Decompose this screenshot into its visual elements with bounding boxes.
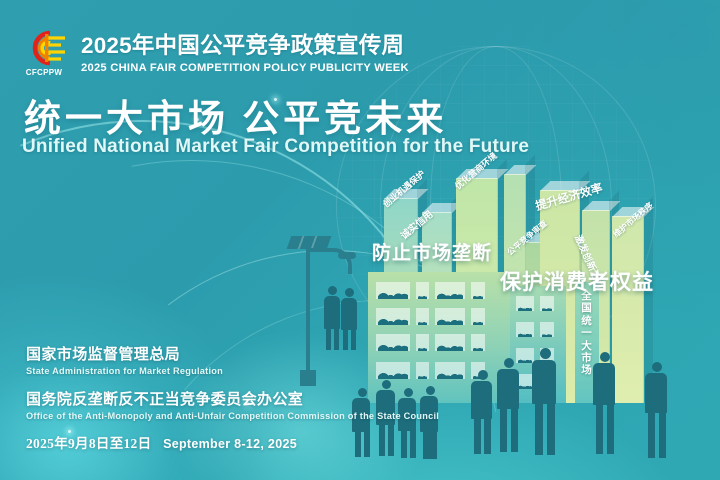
window-row: [516, 296, 554, 311]
window: [376, 282, 410, 299]
window: [540, 296, 554, 311]
header-title-en: 2025 CHINA FAIR COMPETITION POLICY PUBLI…: [81, 62, 409, 74]
header-title-cn: 2025年中国公平竞争政策宣传周: [81, 33, 409, 58]
logo: CFCPPW: [18, 30, 70, 77]
poster-header: CFCPPW 2025年中国公平竞争政策宣传周 2025 CHINA FAIR …: [18, 30, 409, 77]
city-banner: 防止市场垄断: [372, 238, 492, 265]
window-row: [376, 282, 485, 299]
window: [516, 296, 534, 311]
person: [341, 298, 357, 330]
window: [435, 362, 465, 379]
person: [532, 360, 556, 404]
organizer: 国务院反垄断反不正当竞争委员会办公室 Office of the Anti-Mo…: [26, 388, 439, 421]
logo-abbr: CFCPPW: [26, 68, 62, 77]
window: [471, 282, 485, 299]
person: [423, 431, 437, 459]
person: [484, 418, 491, 454]
organizer-name-cn: 国家市场监督管理总局: [26, 343, 439, 364]
window: [516, 322, 534, 337]
person: [659, 412, 666, 458]
person: [511, 408, 518, 452]
person: [324, 296, 340, 329]
organizer-name-en: State Administration for Market Regulati…: [26, 366, 439, 376]
person: [471, 381, 492, 419]
person: [328, 286, 337, 295]
person: [500, 408, 507, 452]
person: [600, 352, 610, 362]
person: [547, 403, 555, 455]
window: [516, 348, 534, 363]
city-banner: 保护消费者权益: [500, 266, 654, 296]
person: [504, 358, 514, 368]
person: [535, 403, 543, 455]
person: [379, 424, 385, 456]
vertical-label-text: 全国统一大市场: [579, 290, 594, 377]
person: [345, 288, 354, 297]
poster-footer: 国家市场监督管理总局 State Administration for Mark…: [26, 343, 439, 421]
poster-canvas: CFCPPW 2025年中国公平竞争政策宣传周 2025 CHINA FAIR …: [0, 0, 720, 480]
window-row: [516, 322, 554, 337]
window: [471, 308, 485, 325]
window: [471, 334, 485, 351]
window: [540, 322, 554, 337]
window: [435, 334, 465, 351]
person: [593, 363, 615, 405]
window: [435, 282, 465, 299]
person: [401, 430, 407, 458]
person: [607, 404, 614, 454]
organizer: 国家市场监督管理总局 State Administration for Mark…: [26, 343, 439, 376]
person: [355, 431, 361, 457]
slogan-cn: 统一大市场 公平竞未来: [24, 88, 447, 142]
window: [416, 308, 429, 325]
person: [364, 431, 370, 457]
person: [648, 412, 655, 458]
person: [478, 370, 488, 380]
window: [416, 282, 429, 299]
tower: [612, 216, 644, 403]
window: [435, 308, 465, 325]
event-date-en: September 8-12, 2025: [163, 437, 297, 451]
event-date-cn: 2025年9月8日至12日: [26, 436, 151, 451]
person: [652, 362, 662, 372]
cfcppw-emblem-icon: [20, 30, 68, 66]
person: [474, 418, 481, 454]
person: [410, 430, 416, 458]
header-titles: 2025年中国公平竞争政策宣传周 2025 CHINA FAIR COMPETI…: [81, 33, 409, 73]
person: [596, 404, 603, 454]
window-row: [376, 308, 485, 325]
person: [497, 369, 519, 409]
organizer-name-en: Office of the Anti-Monopoly and Anti-Unf…: [26, 411, 439, 421]
organizer-name-cn: 国务院反垄断反不正当竞争委员会办公室: [26, 388, 439, 409]
lamp-head: [338, 252, 356, 259]
event-date: 2025年9月8日至12日 September 8-12, 2025: [26, 432, 297, 452]
window: [376, 308, 410, 325]
person: [645, 373, 667, 413]
person: [540, 348, 551, 359]
person: [388, 424, 394, 456]
